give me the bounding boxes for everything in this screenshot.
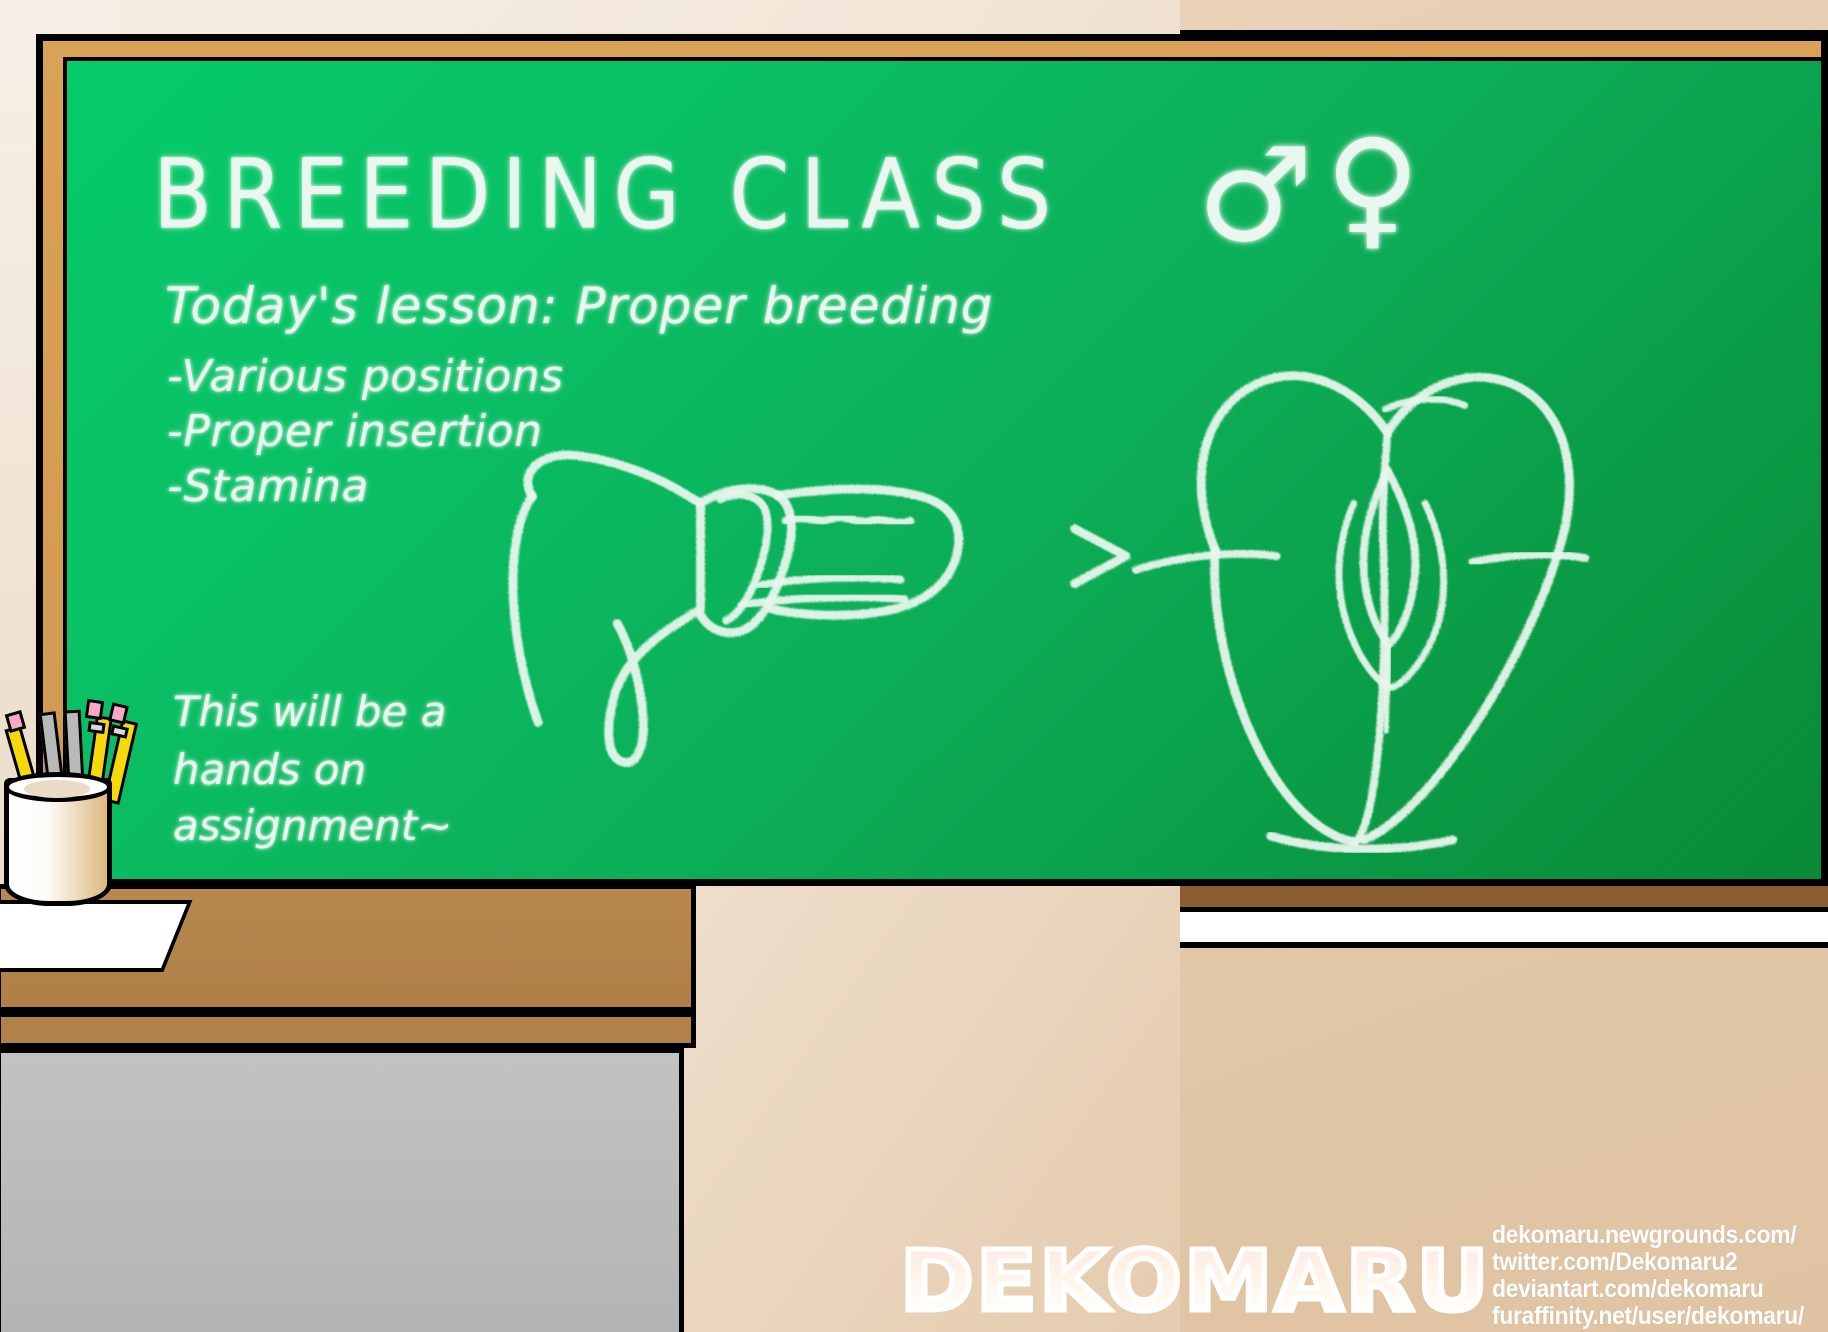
blackboard-frame: BREEDING CLASS ♂ ♀ Today's lesson: Prope… — [39, 37, 1825, 883]
blackboard-surface: BREEDING CLASS ♂ ♀ Today's lesson: Prope… — [63, 57, 1821, 879]
note-line-3: assignment~ — [173, 801, 452, 850]
female-symbol-icon: ♀ — [1325, 111, 1420, 263]
classroom-scene: BREEDING CLASS ♂ ♀ Today's lesson: Prope… — [0, 0, 1828, 1332]
desk-body — [0, 1048, 684, 1332]
desk-front-panel — [0, 1012, 696, 1048]
lesson-line: Today's lesson: Proper breeding — [165, 277, 994, 335]
blackboard: BREEDING CLASS ♂ ♀ Today's lesson: Prope… — [36, 34, 1828, 886]
wall-ledge — [1180, 912, 1828, 948]
artist-links: dekomaru.newgrounds.com/ twitter.com/Dek… — [1492, 1222, 1804, 1330]
chalk-tray — [1180, 886, 1828, 912]
artist-link-newgrounds: dekomaru.newgrounds.com/ — [1492, 1222, 1804, 1249]
artist-link-deviantart: deviantart.com/dekomaru — [1492, 1276, 1804, 1303]
pencil-cup-opening — [24, 780, 90, 798]
paper-sheet — [0, 900, 193, 972]
lesson-bullet-2: -Proper insertion — [167, 406, 542, 457]
board-title: BREEDING CLASS — [153, 139, 1062, 251]
male-symbol-icon: ♂ — [1197, 119, 1314, 271]
pencil-right-1-eraser-icon — [85, 699, 104, 720]
artist-logo: DEKOMARU — [900, 1232, 1491, 1330]
pencil-right-1-ferrule-icon — [87, 721, 105, 734]
note-line-1: This will be a — [173, 687, 446, 736]
lesson-bullet-3: -Stamina — [167, 461, 369, 512]
artist-link-twitter: twitter.com/Dekomaru2 — [1492, 1249, 1804, 1276]
note-line-2: hands on — [173, 745, 366, 794]
lesson-bullet-1: -Various positions — [167, 351, 564, 402]
artist-link-furaffinity: furaffinity.net/user/dekomaru/ — [1492, 1303, 1804, 1330]
